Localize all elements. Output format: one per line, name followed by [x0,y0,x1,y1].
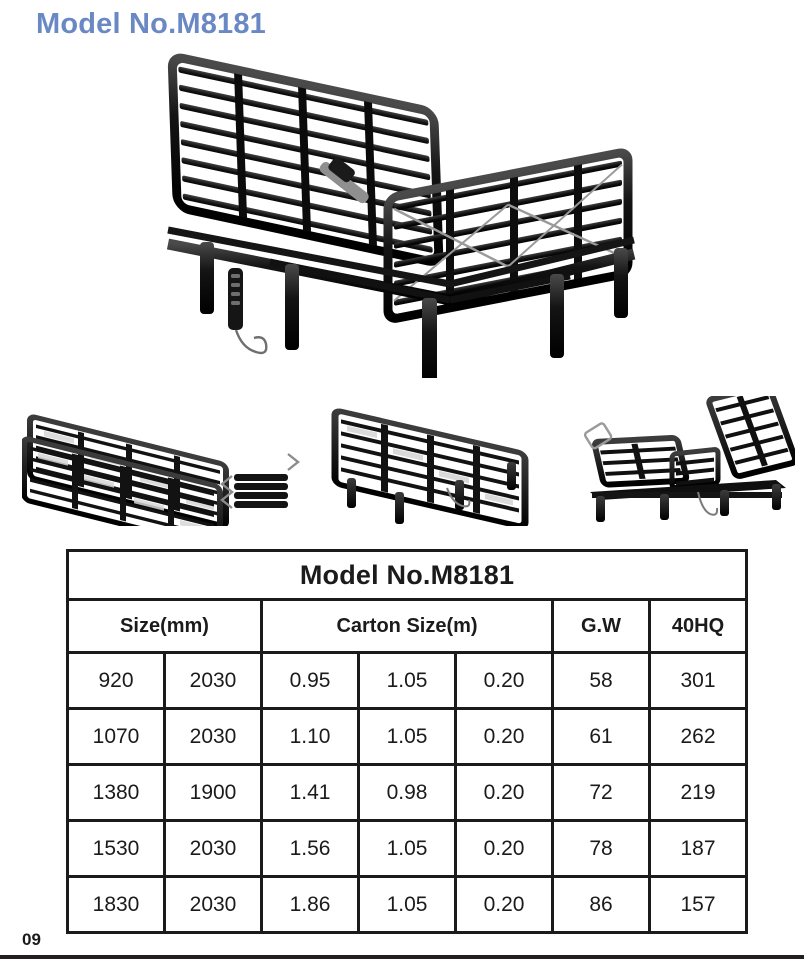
cell-size-width: 1070 [68,709,165,765]
cell-carton-h: 0.20 [456,765,553,821]
table-title: Model No.M8181 [68,551,747,600]
cell-carton-w: 1.05 [359,709,456,765]
cell-carton-w: 1.05 [359,653,456,709]
cell-gw: 72 [553,765,650,821]
cell-carton-h: 0.20 [456,709,553,765]
cell-size-width: 1530 [68,821,165,877]
cell-carton-w: 1.05 [359,877,456,933]
page-number: 09 [22,930,41,950]
cell-carton-l: 1.41 [262,765,359,821]
cell-carton-w: 1.05 [359,821,456,877]
cell-carton-l: 0.95 [262,653,359,709]
column-header-40hq: 40HQ [650,600,747,653]
cell-gw: 78 [553,821,650,877]
cell-40hq: 187 [650,821,747,877]
cell-carton-l: 1.10 [262,709,359,765]
cell-40hq: 262 [650,709,747,765]
cell-carton-h: 0.20 [456,653,553,709]
footer-divider [0,955,804,959]
cell-40hq: 301 [650,653,747,709]
cell-carton-h: 0.20 [456,877,553,933]
table-row: 920 2030 0.95 1.05 0.20 58 301 [68,653,747,709]
cell-size-width: 920 [68,653,165,709]
thumbnail-row [0,396,804,526]
cell-carton-w: 0.98 [359,765,456,821]
table-row: 1380 1900 1.41 0.98 0.20 72 219 [68,765,747,821]
cell-carton-l: 1.56 [262,821,359,877]
table-row: 1530 2030 1.56 1.05 0.20 78 187 [68,821,747,877]
cell-gw: 86 [553,877,650,933]
cell-size-length: 2030 [165,877,262,933]
thumbnail-frame-head-and-foot-raised [580,396,795,526]
table-row: 1830 2030 1.86 1.05 0.20 86 157 [68,877,747,933]
column-header-carton-size-m: Carton Size(m) [262,600,553,653]
cell-carton-h: 0.20 [456,821,553,877]
specification-table: Model No.M8181 Size(mm) Carton Size(m) G… [66,549,748,934]
column-header-size-mm: Size(mm) [68,600,262,653]
cell-carton-l: 1.86 [262,877,359,933]
page-title: Model No.M8181 [36,8,266,41]
hero-product-image [150,48,650,378]
table-header-row: Size(mm) Carton Size(m) G.W 40HQ [68,600,747,653]
cell-40hq: 157 [650,877,747,933]
column-header-gw: G.W [553,600,650,653]
thumbnail-assembled-flat-frame [325,396,540,526]
cell-size-length: 2030 [165,709,262,765]
cell-size-length: 1900 [165,765,262,821]
cell-size-width: 1380 [68,765,165,821]
cell-gw: 58 [553,653,650,709]
cell-size-length: 2030 [165,821,262,877]
table-row: 1070 2030 1.10 1.05 0.20 61 262 [68,709,747,765]
thumbnail-flat-packed-frame-with-legs [22,396,302,526]
cell-gw: 61 [553,709,650,765]
cell-40hq: 219 [650,765,747,821]
cell-size-length: 2030 [165,653,262,709]
cell-size-width: 1830 [68,877,165,933]
table-title-row: Model No.M8181 [68,551,747,600]
